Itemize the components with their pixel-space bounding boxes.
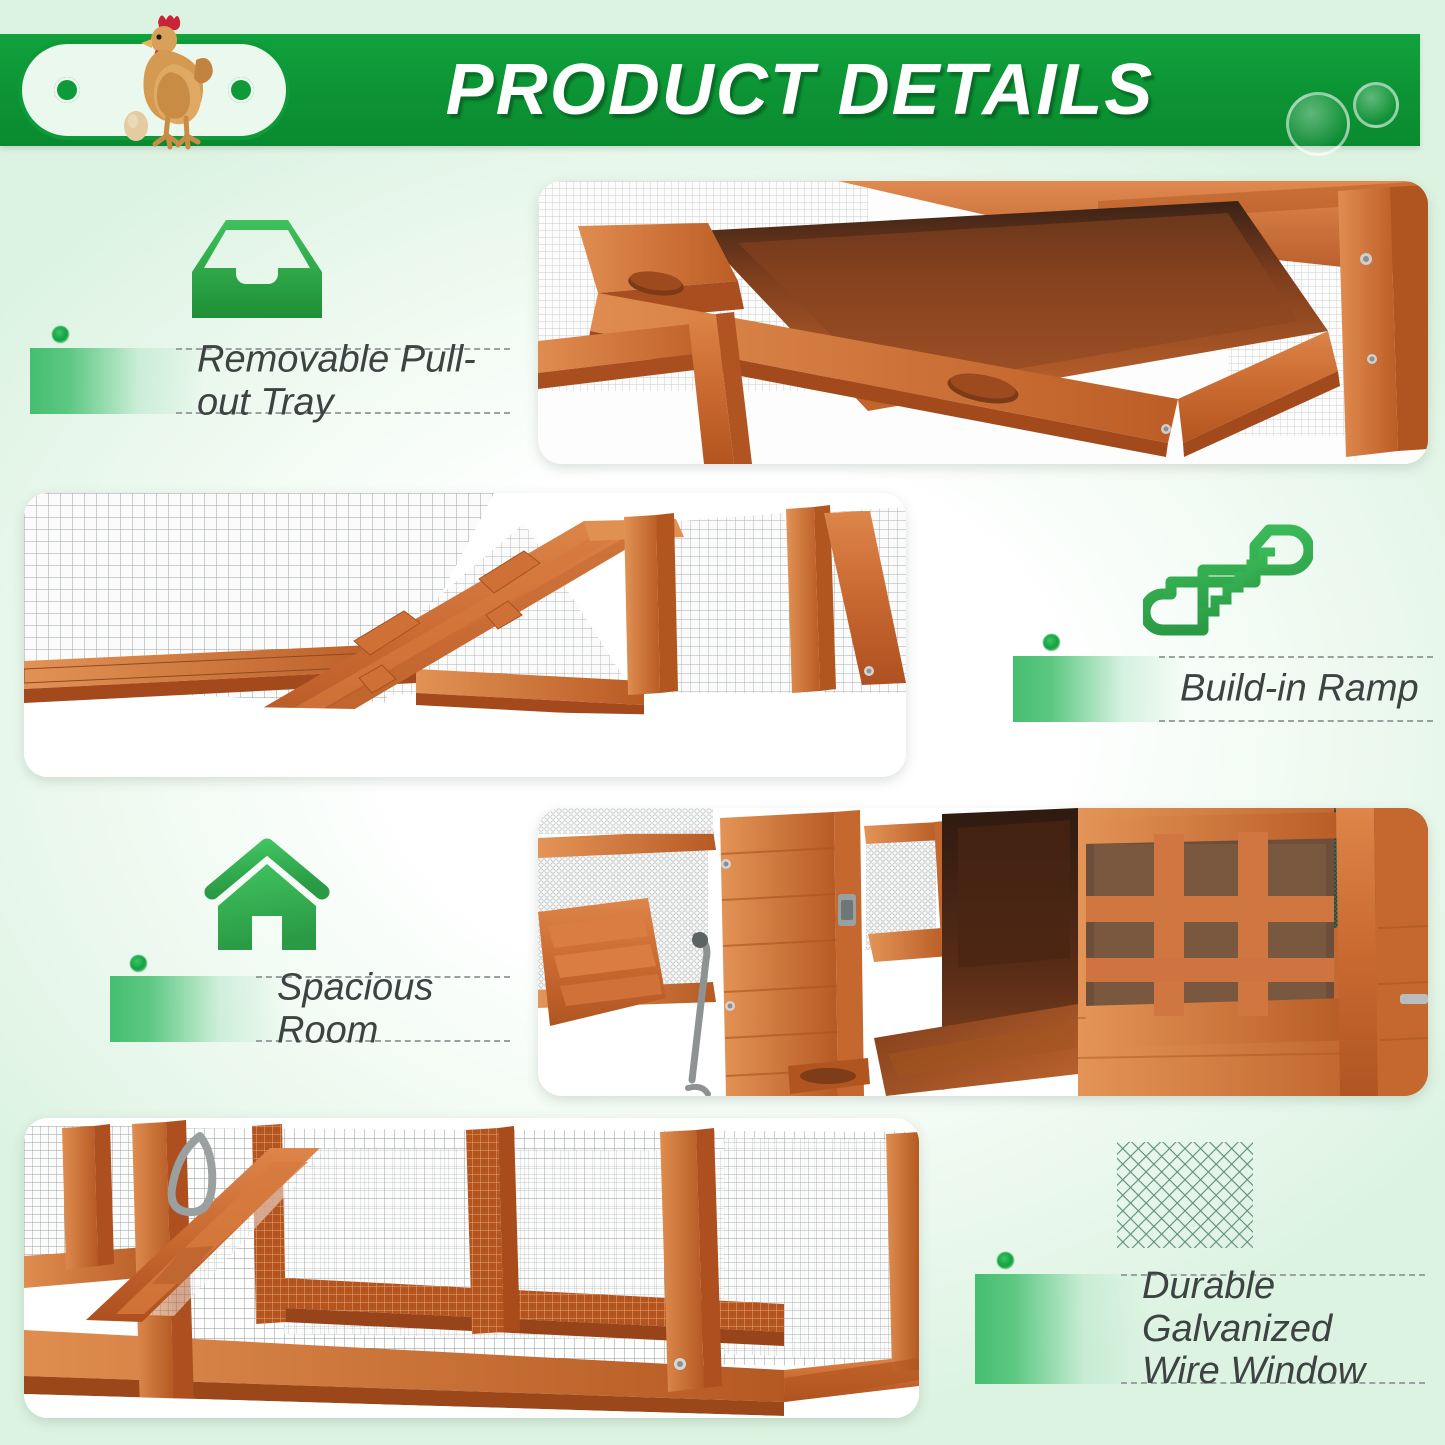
feature-gradient-bar bbox=[1013, 656, 1188, 722]
page-title: PRODUCT DETAILS bbox=[300, 34, 1300, 146]
wire-window-photo bbox=[24, 1118, 919, 1418]
wire-window-illustration bbox=[24, 1118, 919, 1418]
accent-dot-icon bbox=[1043, 634, 1060, 651]
pull-out-tray-photo bbox=[538, 181, 1428, 464]
tray-icon bbox=[186, 214, 328, 326]
feature-label-row: Build-in Ramp bbox=[1013, 656, 1433, 722]
dashed-rule-bottom bbox=[1159, 720, 1433, 722]
feature-gradient-bar bbox=[110, 976, 285, 1042]
chicken-with-egg-image bbox=[100, 6, 220, 166]
accent-dot-icon bbox=[52, 326, 69, 343]
feature-removable-pull-out-tray: Removable Pull-out Tray bbox=[30, 214, 510, 414]
accent-dot-icon bbox=[997, 1252, 1014, 1269]
spacious-room-photo bbox=[538, 808, 1428, 1096]
ramp-escalator-icon bbox=[1143, 524, 1313, 636]
spacious-room-illustration bbox=[538, 808, 1428, 1096]
feature-gradient-bar bbox=[975, 1274, 1150, 1384]
dashed-rule-top bbox=[1159, 656, 1433, 658]
feature-gradient-bar bbox=[30, 348, 205, 414]
feature-durable-galvanized-wire-window: Durable Galvanized Wire Window bbox=[975, 1140, 1425, 1390]
accent-dot-icon bbox=[130, 955, 147, 972]
house-icon bbox=[202, 838, 332, 958]
feature-label-text: Durable Galvanized Wire Window bbox=[1142, 1265, 1425, 1393]
ramp-photo bbox=[24, 493, 906, 777]
feature-label-text: Removable Pull-out Tray bbox=[197, 338, 510, 423]
pull-out-tray-illustration bbox=[538, 181, 1428, 464]
feature-build-in-ramp: Build-in Ramp bbox=[1013, 524, 1433, 724]
feature-label-row: Durable Galvanized Wire Window bbox=[975, 1274, 1425, 1384]
feature-label-text: Spacious Room bbox=[277, 966, 510, 1051]
bubble-small-icon bbox=[1353, 82, 1399, 128]
feature-label-text: Build-in Ramp bbox=[1180, 668, 1419, 711]
feature-spacious-room: Spacious Room bbox=[110, 838, 530, 1043]
wire-mesh-icon bbox=[1115, 1140, 1255, 1250]
header-banner: PRODUCT DETAILS bbox=[0, 34, 1420, 146]
feature-label-row: Spacious Room bbox=[110, 976, 510, 1042]
pill-dot-right-icon bbox=[228, 77, 254, 103]
ramp-illustration bbox=[24, 493, 906, 777]
feature-label-row: Removable Pull-out Tray bbox=[30, 348, 510, 414]
pill-dot-left-icon bbox=[54, 77, 80, 103]
